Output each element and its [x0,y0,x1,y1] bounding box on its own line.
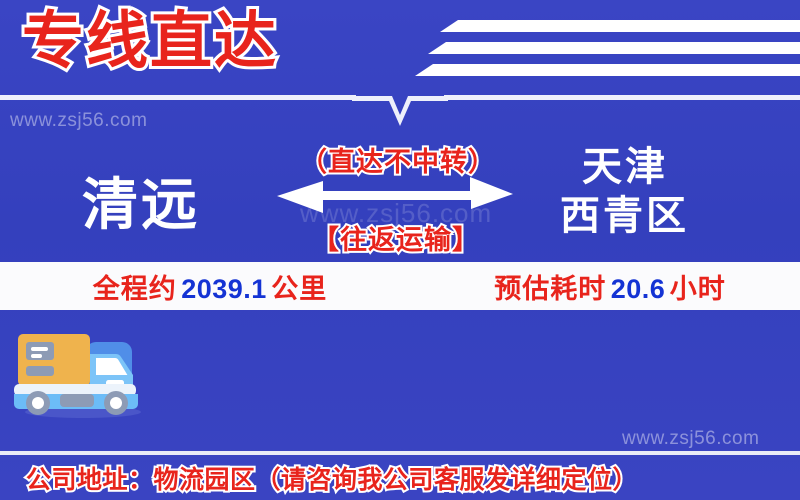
distance-stat: 全程约 2039.1 公里 [0,267,420,306]
coverage-row: 西青区(全境) [0,310,800,452]
duration-unit: 小时 [670,274,726,304]
banner-footer: 公司地址：物流园区（请咨询我公司客服发详细定位） [0,455,800,500]
delivery-truck-icon [8,324,158,419]
route-stats-band: 全程约 2039.1 公里 预估耗时 20.6 小时 [0,262,800,310]
headline-title: 专线直达 [22,8,278,76]
round-trip-tag: 【往返运输】 [312,218,480,257]
header-divider-left [0,95,356,100]
banner-header: 专线直达 [0,0,800,97]
destination-city-line2: 西青区 [560,192,689,241]
decorative-stripe-1 [440,20,800,32]
distance-label: 全程约 [93,274,177,304]
bidirectional-arrow-icon [275,175,515,217]
watermark-top-left: www.zsj56.com [10,110,147,132]
duration-value: 20.6 [611,274,666,304]
logistics-route-banner: 专线直达 www.zsj56.com www.zsj56.com www.zsj… [0,0,800,500]
decorative-stripe-3 [415,64,800,76]
duration-stat: 预估耗时 20.6 小时 [420,267,800,306]
distance-unit: 公里 [271,274,327,304]
distance-value: 2039.1 [181,274,267,304]
chevron-down-icon [352,93,448,127]
destination-city-line1: 天津 [560,143,689,192]
destination-city: 天津 西青区 [560,143,689,241]
company-address-text: 公司地址：物流园区（请咨询我公司客服发详细定位） [0,460,638,496]
direct-service-tag: （直达不中转） [300,140,496,179]
header-divider-right [444,95,800,100]
decorative-stripe-2 [428,42,800,54]
duration-label: 预估耗时 [494,274,606,304]
origin-city: 清远 [82,160,200,241]
